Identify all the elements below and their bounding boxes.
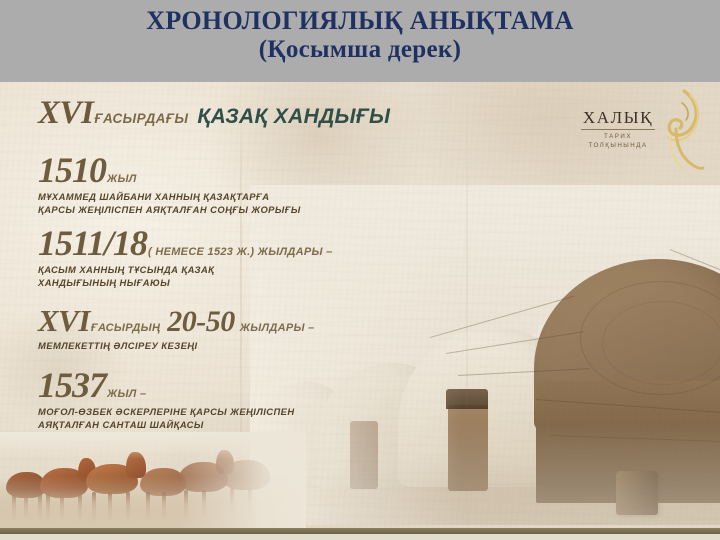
entry-description: МОҒОЛ-ӨЗБЕК ӘСКЕРЛЕРІНЕ ҚАРСЫ ЖЕҢІЛІСПЕН… xyxy=(38,405,368,432)
bottom-strip xyxy=(0,534,720,540)
entry-description-line: МОҒОЛ-ӨЗБЕК ӘСКЕРЛЕРІНЕ ҚАРСЫ ЖЕҢІЛІСПЕН xyxy=(38,405,368,418)
entry-year-suffix: ЖЫЛ xyxy=(107,173,137,185)
entry-description: МҰХАММЕД ШАЙБАНИ ХАННЫҢ ҚАЗАҚТАРҒА ҚАРСЫ… xyxy=(38,190,368,217)
entry-description-line: АЯҚТАЛҒАН САНТАШ ШАЙҚАСЫ xyxy=(38,418,368,431)
entry-year-suffix: ЖЫЛ – xyxy=(107,388,146,400)
entry-heading: XVIҒАСЫРДЫҢ20-50ЖЫЛДАРЫ – xyxy=(38,305,438,337)
entry-description-line: ҚАСЫМ ХАННЫҢ ТҰСЫНДА ҚАЗАҚ xyxy=(38,263,368,276)
chronology-entry: XVIҒАСЫРДЫҢ20-50ЖЫЛДАРЫ – МЕМЛЕКЕТТІҢ ӘЛ… xyxy=(38,305,438,352)
chronology-text-column: XVIҒАСЫРДАҒЫҚАЗАҚ ХАНДЫҒЫ 1510ЖЫЛ МҰХАММ… xyxy=(38,95,438,439)
entry-heading: 1510ЖЫЛ xyxy=(38,152,438,188)
logo-divider xyxy=(581,129,655,130)
entry-roman-numeral: XVI xyxy=(38,303,90,338)
entry-description: МЕМЛЕКЕТТІҢ ӘЛСІРЕУ КЕЗЕҢІ xyxy=(38,339,368,352)
entry-year: 1510 xyxy=(38,150,106,190)
logo-title: ХАЛЫҚ xyxy=(580,109,656,126)
chronology-entry: 1511/18( НЕМЕСЕ 1523 Ж.) ЖЫЛДАРЫ – ҚАСЫМ… xyxy=(38,225,438,290)
paper-crease xyxy=(466,81,468,540)
entry-year: 1537 xyxy=(38,365,106,405)
entry-description: ҚАСЫМ ХАННЫҢ ТҰСЫНДА ҚАЗАҚ ХАНДЫҒЫНЫҢ НЫ… xyxy=(38,263,368,290)
running-horses-photo xyxy=(0,432,306,528)
entry-description-line: ХАНДЫҒЫНЫҢ НЫҒАЮЫ xyxy=(38,276,368,289)
entry-year-suffix: ( НЕМЕСЕ 1523 Ж.) ЖЫЛДАРЫ – xyxy=(148,246,333,258)
halyq-logo[interactable]: ХАЛЫҚ ТАРИХ ТОЛҚЫНЫНДА xyxy=(578,93,706,171)
header-band: ХРОНОЛОГИЯЛЫҚ АНЫҚТАМА (Қосымша дерек) xyxy=(0,0,720,82)
page-title: ХРОНОЛОГИЯЛЫҚ АНЫҚТАМА (Қосымша дерек) xyxy=(0,6,720,64)
chronology-entry: 1537ЖЫЛ – МОҒОЛ-ӨЗБЕК ӘСКЕРЛЕРІНЕ ҚАРСЫ … xyxy=(38,367,438,432)
logo-subtitle-2: ТОЛҚЫНЫНДА xyxy=(580,142,656,151)
chronology-entry: 1510ЖЫЛ МҰХАММЕД ШАЙБАНИ ХАННЫҢ ҚАЗАҚТАР… xyxy=(38,152,438,217)
entry-range-suffix: ЖЫЛДАРЫ – xyxy=(240,322,315,334)
page-title-line1: ХРОНОЛОГИЯЛЫҚ АНЫҚТАМА xyxy=(0,6,720,36)
entry-heading: 1537ЖЫЛ – xyxy=(38,367,438,403)
entry-description-line: МЕМЛЕКЕТТІҢ ӘЛСІРЕУ КЕЗЕҢІ xyxy=(38,339,368,352)
entry-description-line: МҰХАММЕД ШАЙБАНИ ХАННЫҢ ҚАЗАҚТАРҒА xyxy=(38,190,368,203)
entry-description-line: ҚАРСЫ ЖЕҢІЛІСПЕН АЯҚТАЛҒАН СОҢҒЫ ЖОРЫҒЫ xyxy=(38,203,368,216)
slide-screenshot: ХРОНОЛОГИЯЛЫҚ АНЫҚТАМА (Қосымша дерек) xyxy=(0,0,720,540)
entry-year: 1511/18 xyxy=(38,223,147,263)
entry-heading: 1511/18( НЕМЕСЕ 1523 Ж.) ЖЫЛДАРЫ – xyxy=(38,225,438,261)
horses-edge-haze xyxy=(0,432,306,528)
page-title-line2: (Қосымша дерек) xyxy=(0,36,720,65)
slide-canvas: ХАЛЫҚ ТАРИХ ТОЛҚЫНЫНДА XVIҒАСЫРДАҒЫҚАЗАҚ… xyxy=(0,81,720,540)
logo-text-block: ХАЛЫҚ ТАРИХ ТОЛҚЫНЫНДА xyxy=(580,109,656,151)
slide-heading: XVIҒАСЫРДАҒЫҚАЗАҚ ХАНДЫҒЫ xyxy=(38,95,438,132)
entry-year-range: 20-50 xyxy=(167,305,235,338)
heading-roman-suffix: ҒАСЫРДАҒЫ xyxy=(94,111,188,126)
heading-main-title: ҚАЗАҚ ХАНДЫҒЫ xyxy=(197,105,390,128)
heading-roman-numeral: XVI xyxy=(38,95,93,131)
logo-subtitle-1: ТАРИХ xyxy=(580,133,656,142)
entry-roman-suffix: ҒАСЫРДЫҢ xyxy=(91,322,160,334)
